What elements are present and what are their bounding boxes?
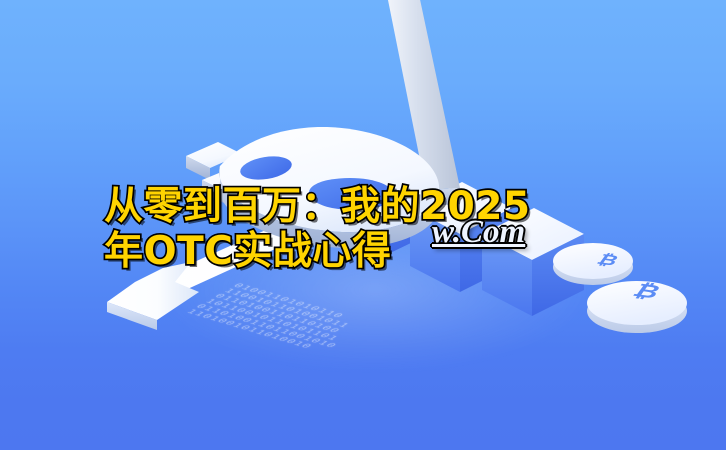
- article-cover-image: 01001101010110 1100101101001011 01101001…: [0, 0, 726, 450]
- title-line-1: 从零到百万：我的2025: [104, 184, 574, 229]
- cover-title: 从零到百万：我的2025 年OTC实战心得: [104, 184, 574, 274]
- bitcoin-coin-large: ₿: [587, 279, 687, 333]
- title-line-2: 年OTC实战心得: [104, 229, 574, 274]
